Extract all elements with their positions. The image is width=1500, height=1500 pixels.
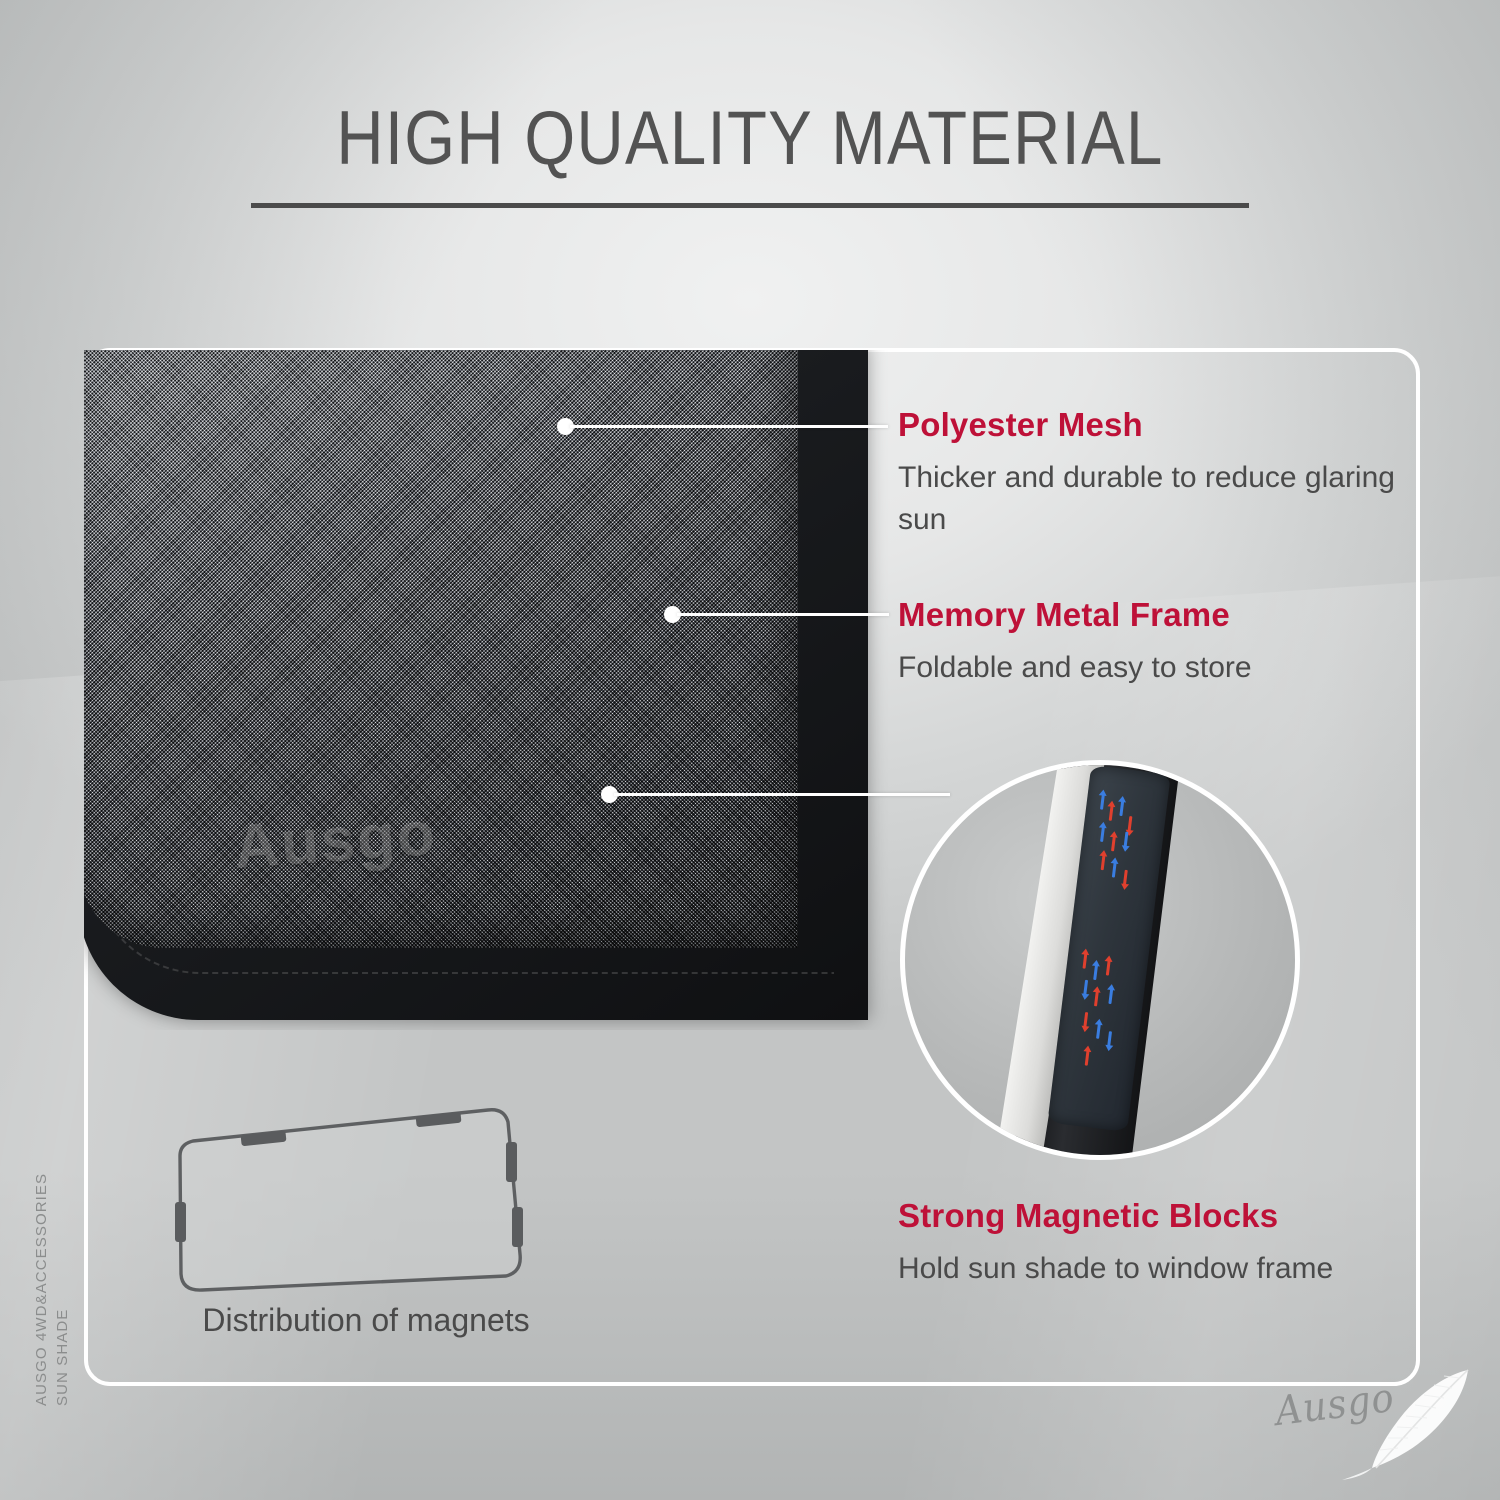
field-arrow-blue (1112, 860, 1117, 877)
field-arrow-blue (1083, 980, 1088, 997)
side-text-line-2: SUN SHADE (52, 1146, 73, 1406)
magnet-block-right-lower (512, 1207, 523, 1247)
leader-line-1 (570, 425, 888, 428)
field-arrow-blue (1108, 987, 1113, 1004)
field-arrow-blue (1107, 1031, 1112, 1048)
infographic-canvas: HIGH QUALITY MATERIAL Ausgo Polyester Me… (0, 0, 1500, 1500)
field-arrow-red (1101, 853, 1106, 870)
side-branding-text: AUSGO 4WD&ACCESSORIES SUN SHADE (31, 1146, 73, 1406)
leader-line-2 (677, 613, 889, 616)
side-text-line-1: AUSGO 4WD&ACCESSORIES (31, 1146, 52, 1406)
magnet-diagram-caption: Distribution of magnets (166, 1300, 566, 1340)
field-arrow-blue (1119, 799, 1124, 816)
field-arrow-red (1083, 1012, 1088, 1029)
magnet-distribution-diagram (168, 1104, 536, 1296)
field-arrow-blue (1100, 792, 1105, 809)
callout-heading: Strong Magnetic Blocks (898, 1196, 1398, 1236)
magnet-strip (972, 760, 1219, 1160)
title-underline (251, 203, 1249, 208)
callout-heading: Memory Metal Frame (898, 595, 1398, 635)
page-title: HIGH QUALITY MATERIAL (105, 96, 1395, 182)
callout-strong-magnetic-blocks: Strong Magnetic Blocks Hold sun shade to… (898, 1196, 1398, 1290)
magnet-block-left (175, 1202, 186, 1242)
field-arrow-blue (1123, 832, 1128, 849)
magnet-distribution-svg (168, 1104, 536, 1296)
magnetic-block-closeup (900, 760, 1300, 1160)
field-arrow-red (1109, 804, 1114, 821)
field-arrow-blue (1100, 825, 1105, 842)
product-photo: Ausgo (84, 350, 924, 1030)
leader-line-3 (614, 793, 950, 796)
callout-polyester-mesh: Polyester Mesh Thicker and durable to re… (898, 405, 1398, 541)
callout-memory-metal-frame: Memory Metal Frame Foldable and easy to … (898, 595, 1398, 689)
mesh-watermark: Ausgo (232, 798, 439, 883)
magnet-block-right-upper (506, 1142, 517, 1182)
product-mesh-fabric (84, 350, 798, 948)
field-arrow-blue (1093, 963, 1098, 980)
field-arrow-red (1111, 834, 1116, 851)
field-arrow-red (1106, 958, 1111, 975)
field-arrow-red (1085, 1048, 1090, 1065)
field-arrow-red (1123, 870, 1128, 887)
page-header: HIGH QUALITY MATERIAL (0, 96, 1500, 182)
callout-body: Foldable and easy to store (898, 647, 1398, 689)
brand-logo: Ausgo (1252, 1362, 1482, 1492)
callout-body: Hold sun shade to window frame (898, 1248, 1398, 1290)
callout-body: Thicker and durable to reduce glaring su… (898, 457, 1398, 541)
window-outline (180, 1110, 520, 1290)
field-arrow-red (1094, 989, 1099, 1006)
field-arrow-red (1082, 952, 1087, 969)
field-arrow-red (1127, 816, 1132, 833)
callout-heading: Polyester Mesh (898, 405, 1398, 445)
field-arrow-blue (1096, 1022, 1101, 1039)
